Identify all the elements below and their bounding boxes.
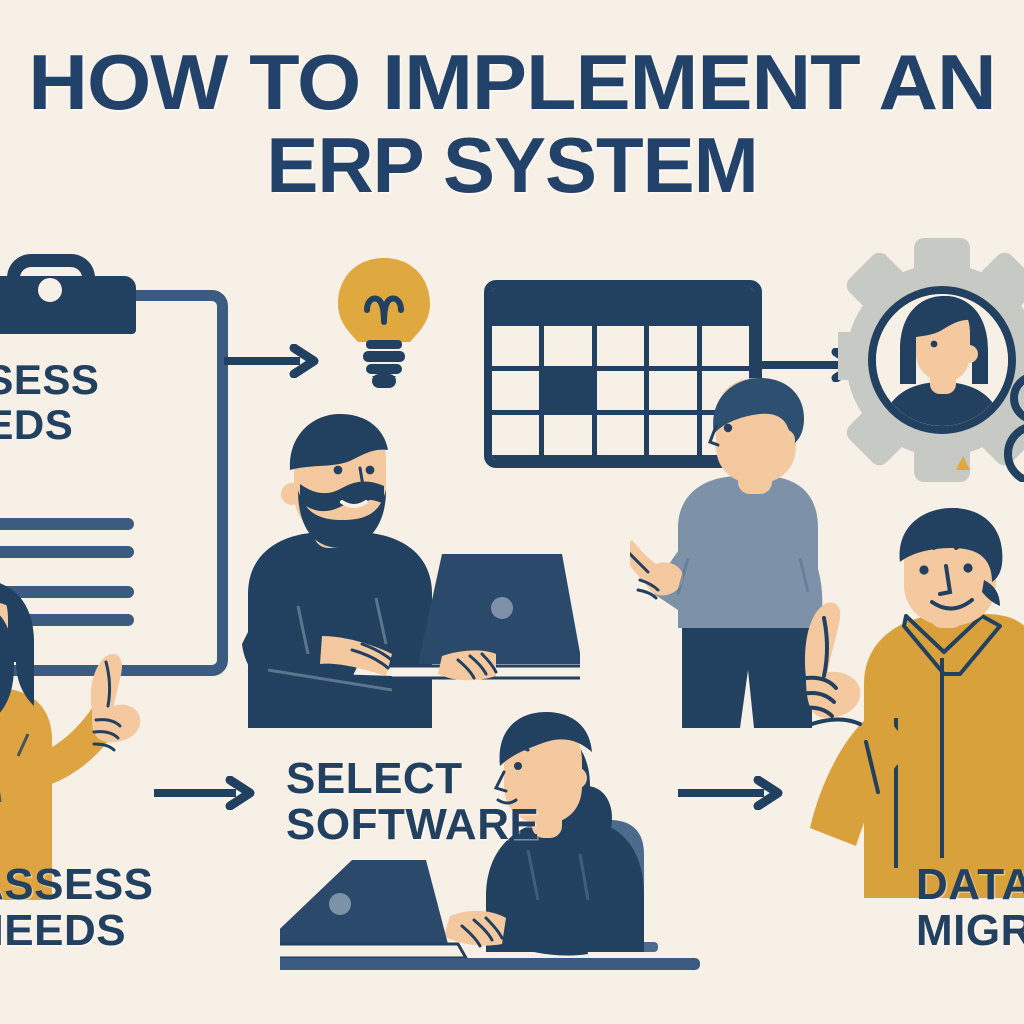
arrow-assess-to-select [152,776,260,810]
step-label-assess-needs: ASSESS NEEDS [0,862,154,954]
calendar-cell [702,326,754,371]
step-label-data-migration: DATA MIGRATION [916,862,1024,954]
arrow-select-to-data [676,776,788,810]
clipboard-rule [0,546,134,558]
partial-avatar-icon [994,352,1024,482]
clipboard-clip-hole [38,278,62,302]
woman-pointing-left [0,570,176,900]
man-in-yellow-shirt-pointing-up [788,508,1024,908]
calendar-cell [649,326,701,371]
step-label-select-software: SELECT SOFTWARE [286,756,539,848]
calendar-cell [492,326,544,371]
page-title: HOW TO IMPLEMENT AN ERP SYSTEM [0,46,1024,203]
infographic-canvas: HOW TO IMPLEMENT AN ERP SYSTEM ASSESS NE… [0,0,1024,1024]
clipboard-rule [0,518,134,530]
arrow-clipboard-to-bulb [222,344,322,378]
clipboard-label: ASSESS NEEDS [0,358,206,448]
calendar-cell [597,326,649,371]
lightbulb-icon [330,254,438,404]
title-line-2: ERP SYSTEM [0,129,1024,202]
title-line-1: HOW TO IMPLEMENT AN [0,46,1024,119]
calendar-cell [544,326,596,371]
calendar-header-bar [492,288,754,326]
